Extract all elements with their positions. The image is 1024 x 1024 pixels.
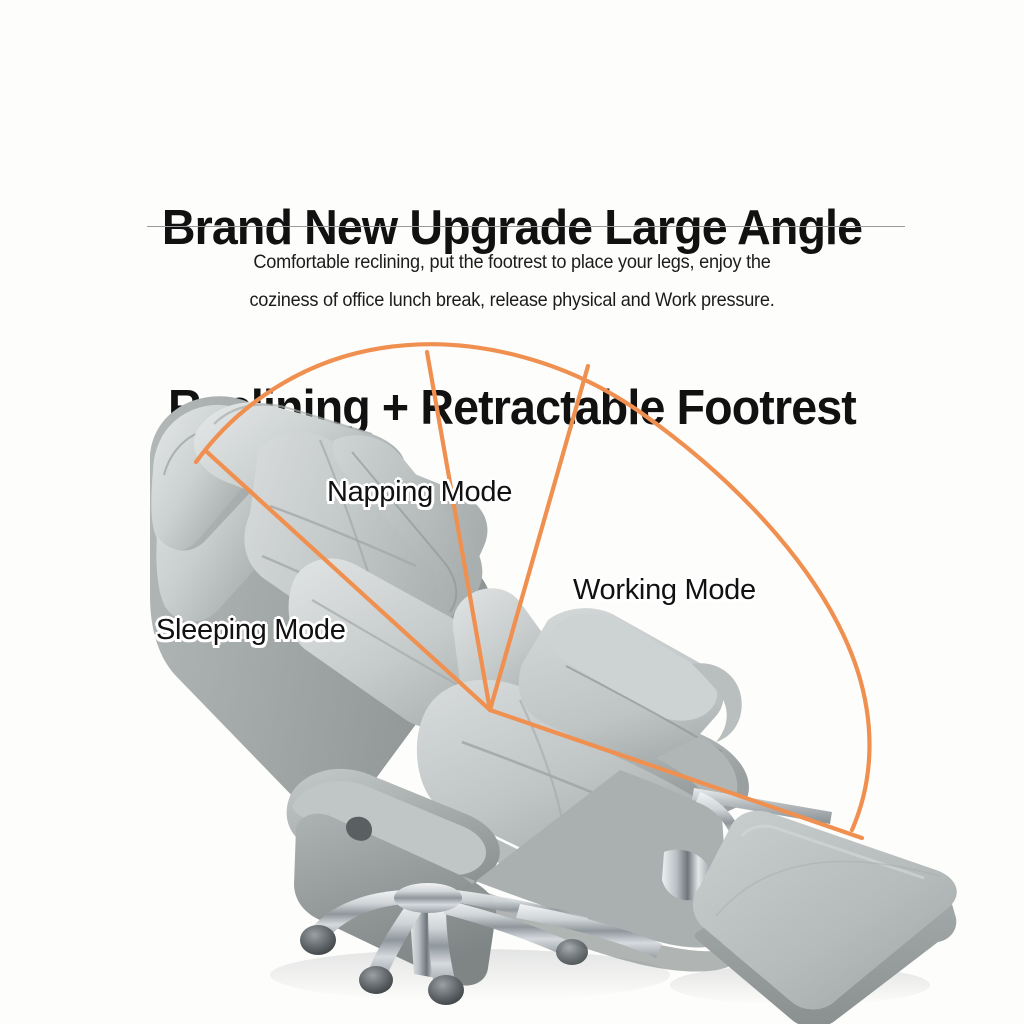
base-hub <box>394 883 462 913</box>
product-feature-banner: Brand New Upgrade Large Angle Reclining … <box>0 0 1024 1024</box>
mode-label-sleeping: Sleeping Mode <box>156 614 346 647</box>
chair-illustration <box>0 0 1024 1024</box>
mode-label-napping: Napping Mode <box>327 476 512 509</box>
caster-left <box>300 925 336 955</box>
caster-right <box>556 939 588 965</box>
caster-front <box>428 975 464 1005</box>
caster-front-left <box>359 966 393 994</box>
mode-label-working: Working Mode <box>573 574 756 607</box>
